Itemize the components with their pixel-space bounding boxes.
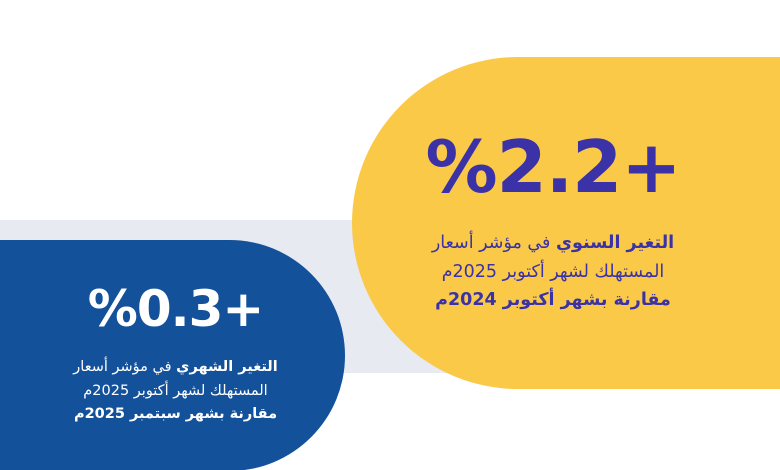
monthly-caption-line-1: التغير الشهري في مؤشر أسعار	[73, 356, 277, 379]
annual-change-card: %2.2+ التغير السنوي في مؤشر أسعار المسته…	[352, 57, 780, 389]
monthly-caption-light: في مؤشر أسعار	[73, 359, 176, 375]
annual-caption-strong: التغير السنوي	[556, 233, 674, 253]
monthly-caption-line-3: مقارنة بشهر سبتمبر 2025م	[73, 403, 277, 426]
annual-caption-light: في مؤشر أسعار	[432, 233, 556, 253]
annual-caption-line-1: التغير السنوي في مؤشر أسعار	[432, 229, 674, 257]
annual-caption-line-3: مقارنة بشهر أكتوبر 2024م	[432, 286, 674, 314]
annual-caption-line-2: المستهلك لشهر أكتوبر 2025م	[432, 258, 674, 286]
monthly-caption-strong: التغير الشهري	[176, 359, 278, 375]
monthly-change-caption: التغير الشهري في مؤشر أسعار المستهلك لشه…	[73, 356, 277, 426]
annual-change-caption: التغير السنوي في مؤشر أسعار المستهلك لشه…	[432, 229, 674, 314]
annual-change-value: %2.2+	[426, 131, 681, 203]
monthly-caption-line-2: المستهلك لشهر أكتوبر 2025م	[73, 380, 277, 403]
infographic-canvas: %2.2+ التغير السنوي في مؤشر أسعار المسته…	[0, 0, 780, 470]
monthly-change-card: %0.3+ التغير الشهري في مؤشر أسعار المسته…	[0, 240, 345, 470]
monthly-change-value: %0.3+	[88, 284, 264, 334]
